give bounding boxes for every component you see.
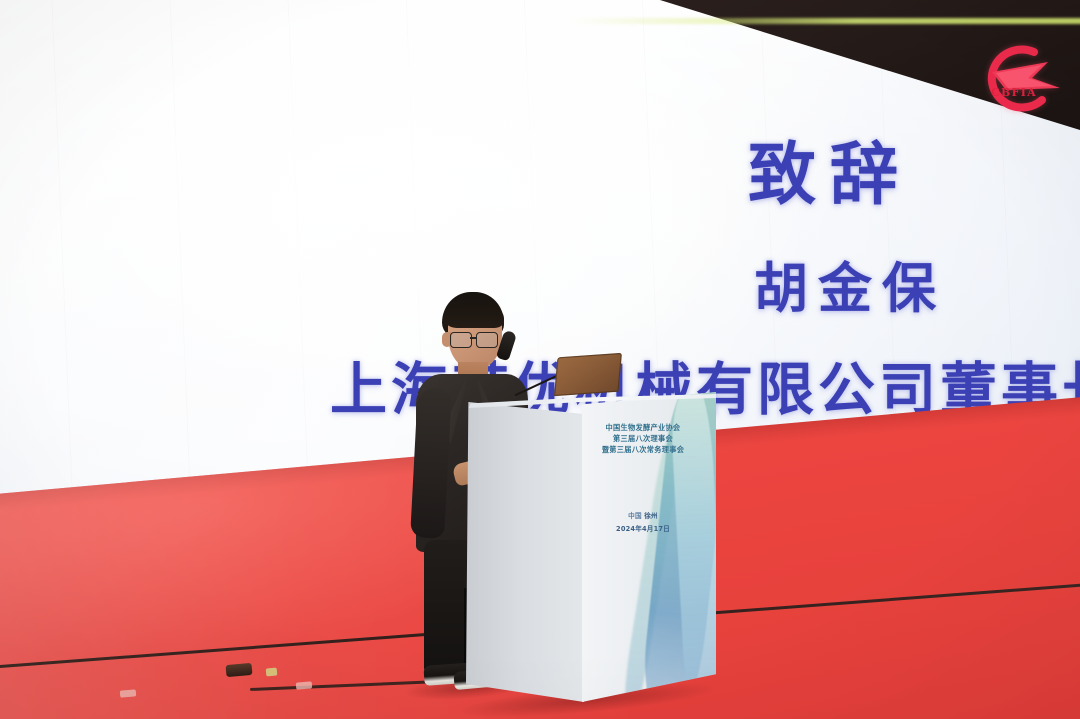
podium-place-city: 徐州 xyxy=(644,512,658,520)
cbfia-logo: CBFIA xyxy=(962,38,1066,116)
cable-tape xyxy=(296,681,313,689)
podium-place: 中国 徐州 xyxy=(588,510,698,523)
podium-front-panel xyxy=(466,402,584,702)
podium-organization: 中国生物发酵产业协会 xyxy=(588,422,698,433)
hair-front xyxy=(444,302,504,328)
podium-date: 2024年4月17日 xyxy=(588,523,698,536)
podium-meeting-line-2: 暨第三届八次常务理事会 xyxy=(588,444,698,455)
floor-object xyxy=(266,668,278,677)
svg-text:CBFIA: CBFIA xyxy=(991,86,1037,99)
podium: 中国生物发酵产业协会 第三届八次理事会 暨第三届八次常务理事会 中国 徐州 20… xyxy=(466,392,716,712)
podium-meeting-line-1: 第三届八次理事会 xyxy=(588,433,698,444)
cable-tape xyxy=(120,689,137,697)
podium-place-prefix: 中国 xyxy=(628,512,642,520)
slide-speaker-name: 胡金保 xyxy=(754,262,946,316)
laptop xyxy=(554,353,622,396)
podium-event-text: 中国生物发酵产业协会 第三届八次理事会 暨第三届八次常务理事会 xyxy=(588,422,698,455)
conference-stage-photo: CBFIA 致辞 胡金保 上海某优机械有限公司董事长 xyxy=(0,0,1080,719)
floor-object xyxy=(226,663,253,677)
podium-meta-text: 中国 徐州 2024年4月17日 xyxy=(588,510,698,536)
glasses xyxy=(450,332,502,348)
slide-title: 致辞 xyxy=(748,142,912,210)
